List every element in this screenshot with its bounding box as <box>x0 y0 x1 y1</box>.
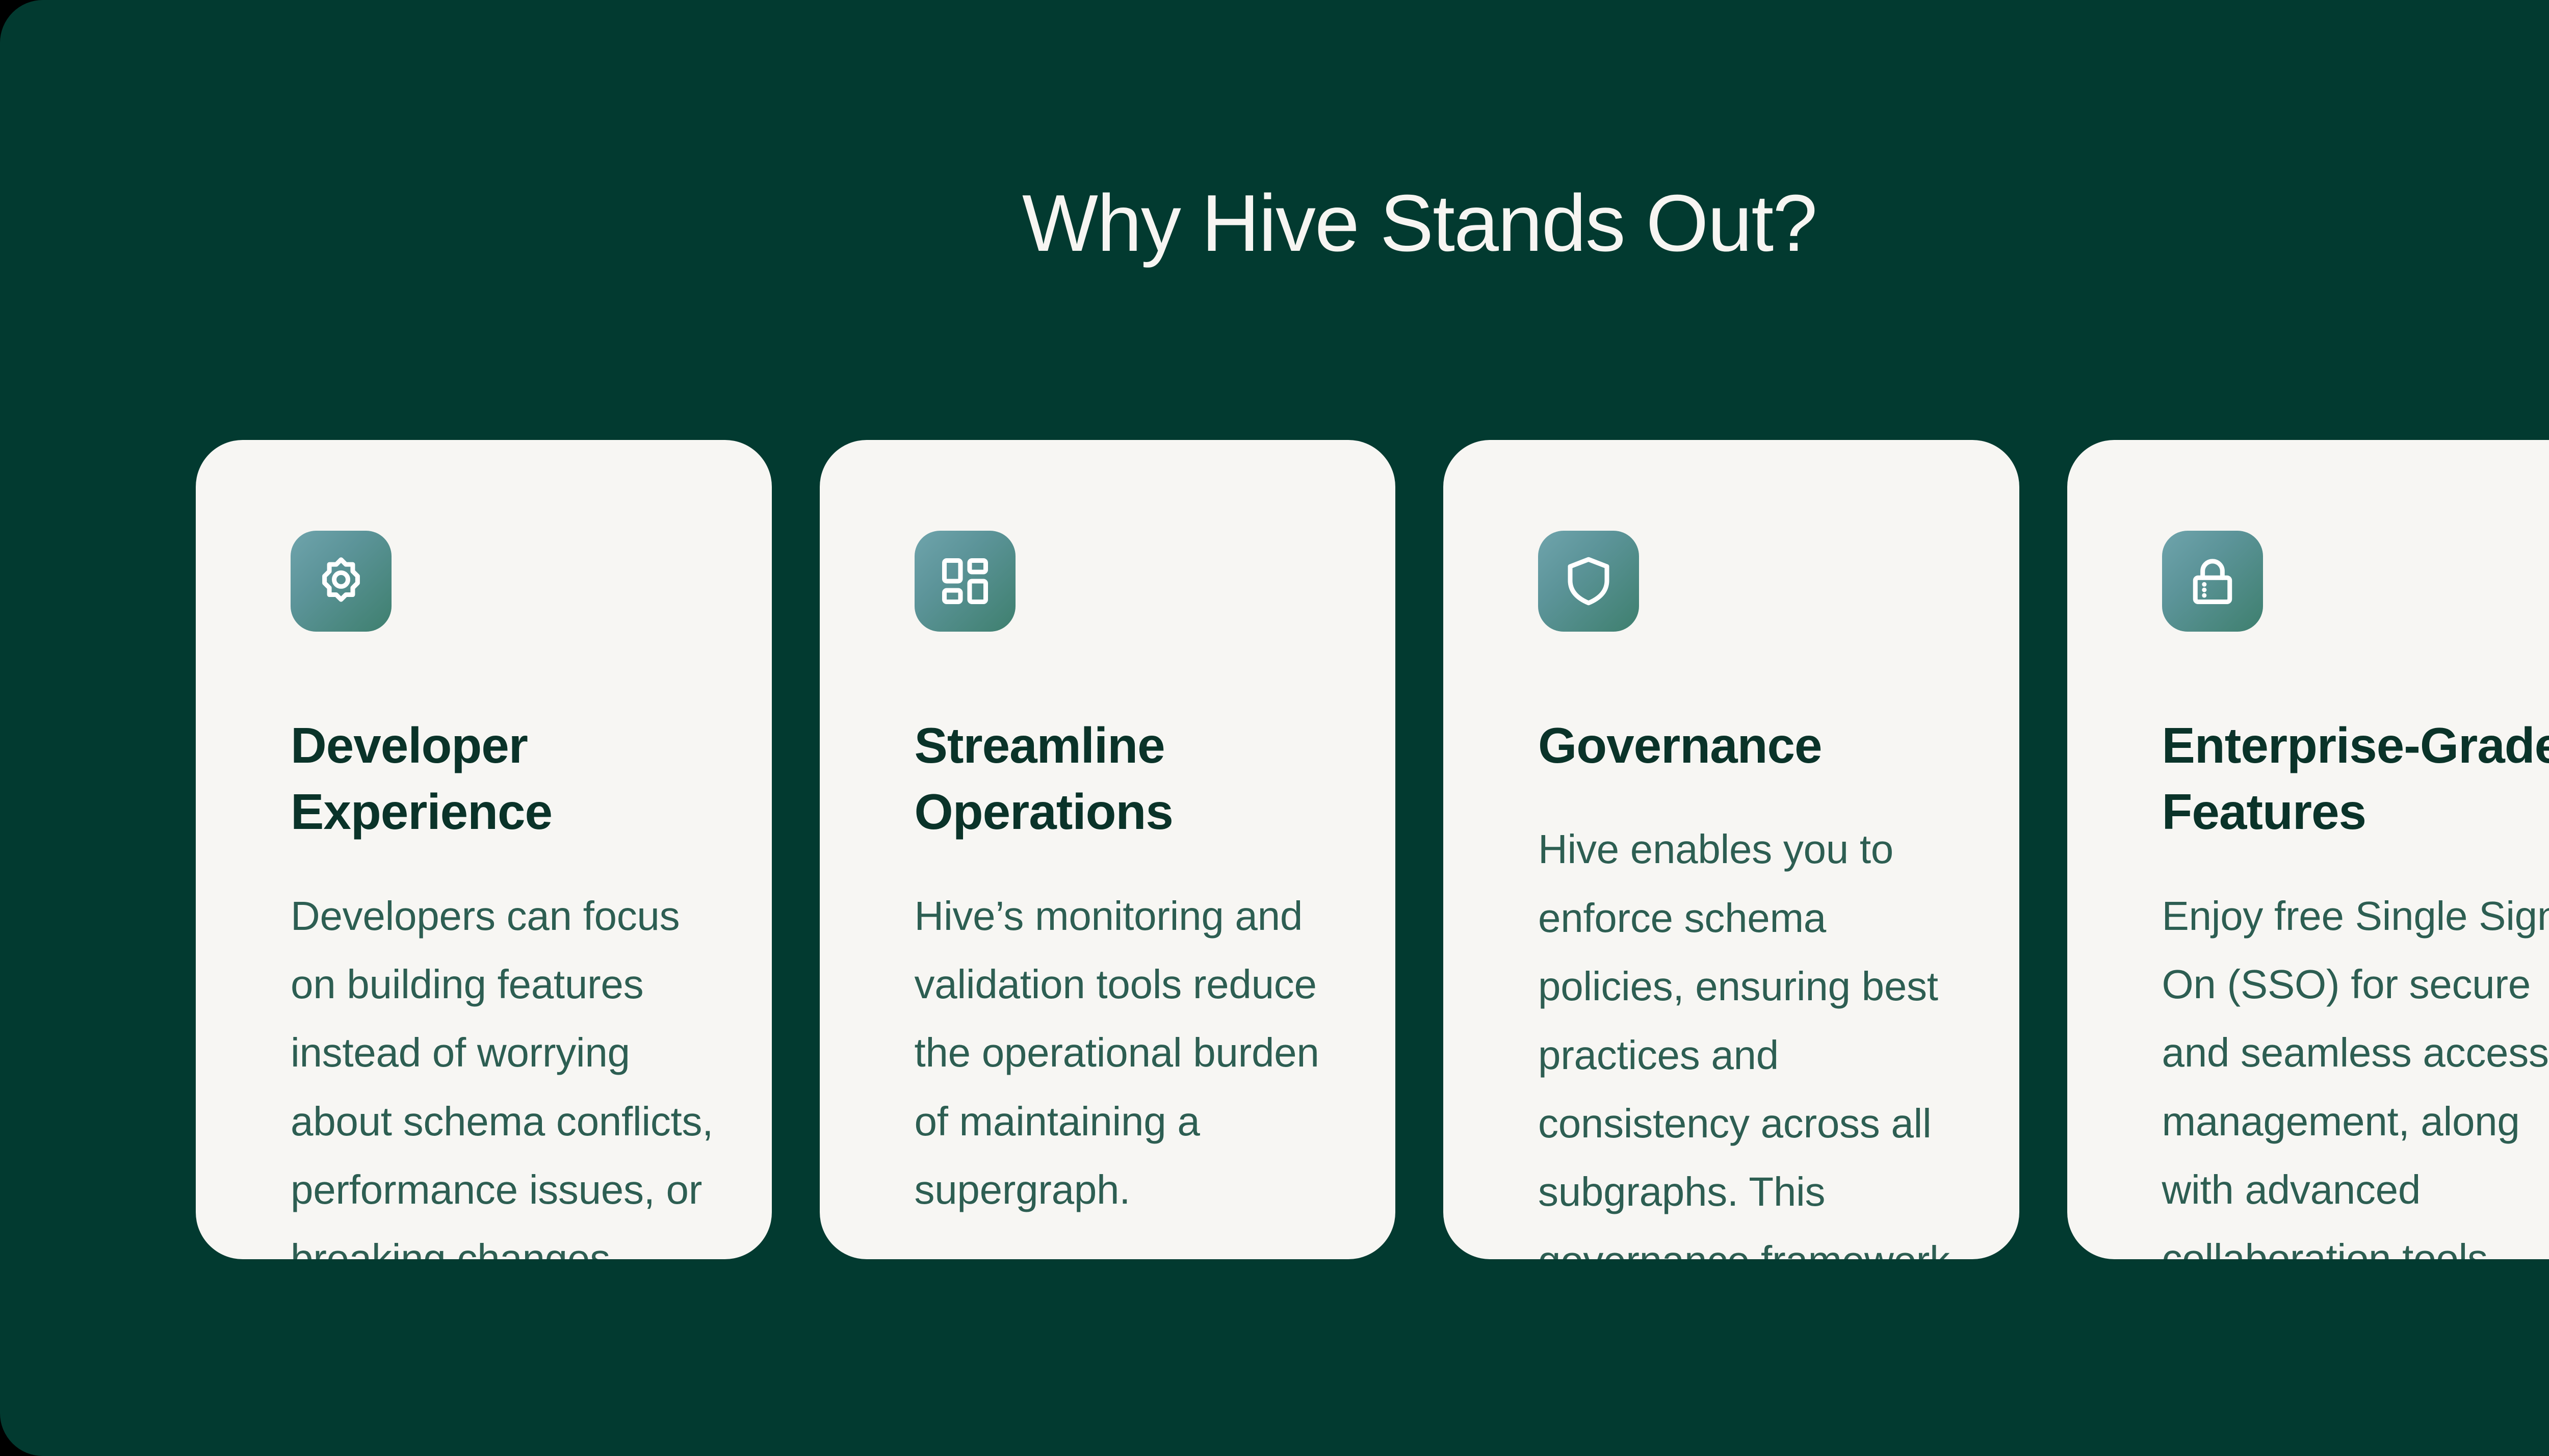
layout-dashboard-icon <box>915 531 1016 632</box>
feature-card-body: Developers can focus on building feature… <box>291 882 721 1259</box>
feature-card-list: Developer Experience Developers can focu… <box>196 440 2549 1259</box>
lock-icon <box>2162 531 2263 632</box>
feature-card-body: Hive enables you to enforce schema polic… <box>1538 815 1968 1259</box>
feature-card[interactable]: Streamline Operations Hive’s monitoring … <box>820 440 1396 1259</box>
feature-card-title: Enterprise-Grade Features <box>2162 712 2549 845</box>
feature-card-body: Hive’s monitoring and validation tools r… <box>915 882 1345 1225</box>
gear-icon <box>291 531 392 632</box>
feature-card-body: Enjoy free Single Sign-On (SSO) for secu… <box>2162 882 2549 1259</box>
page-title: Why Hive Stands Out? <box>0 179 2549 268</box>
feature-card[interactable]: Governance Hive enables you to enforce s… <box>1443 440 2019 1259</box>
feature-card-title: Governance <box>1538 712 1968 778</box>
feature-card[interactable]: Enterprise-Grade Features Enjoy free Sin… <box>2067 440 2549 1259</box>
shield-icon <box>1538 531 1639 632</box>
feature-card[interactable]: Developer Experience Developers can focu… <box>196 440 772 1259</box>
feature-section: Why Hive Stands Out? Developer Experienc… <box>0 0 2549 1456</box>
feature-card-title: Streamline Operations <box>915 712 1345 845</box>
feature-card-title: Developer Experience <box>291 712 721 845</box>
